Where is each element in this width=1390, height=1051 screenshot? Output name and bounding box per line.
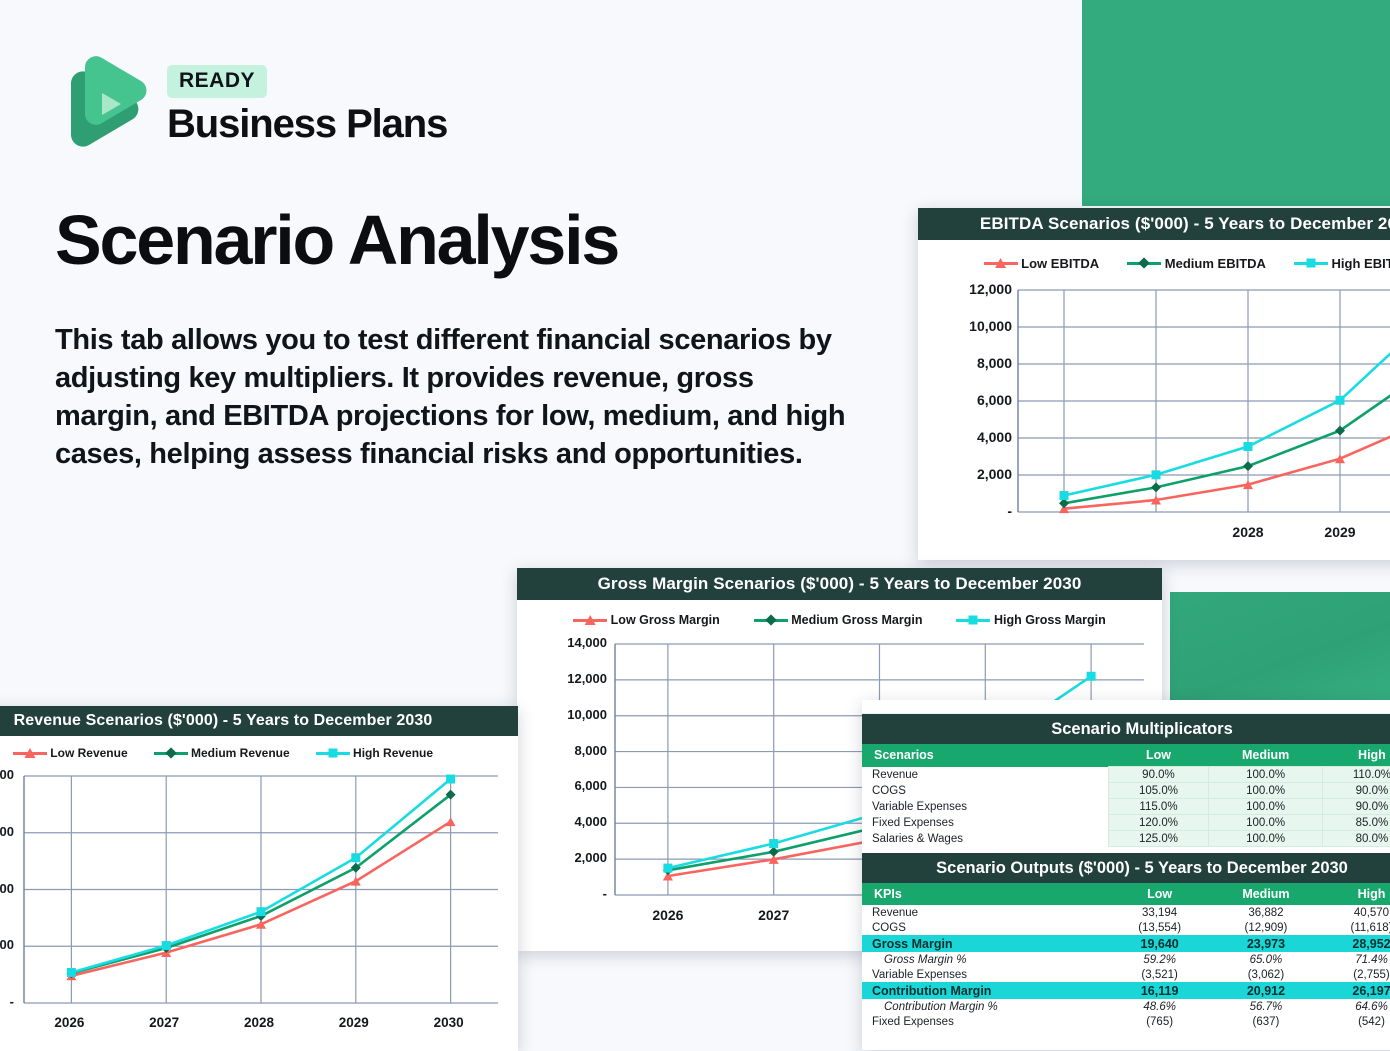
col-kpis: KPIs bbox=[862, 883, 1108, 905]
x-axis-tick: 2030 bbox=[421, 1015, 477, 1030]
cell-low: 59.2% bbox=[1108, 952, 1210, 967]
cell-medium: 100.0% bbox=[1209, 799, 1323, 815]
cell-high: 26,197 bbox=[1321, 982, 1390, 999]
decorative-green-block-middle bbox=[1170, 592, 1390, 702]
y-axis-tick: 10,000 bbox=[549, 707, 607, 722]
table-row: Fixed Expenses120.0%100.0%85.0% bbox=[862, 815, 1390, 831]
legend-line-low-icon bbox=[13, 752, 47, 755]
page-title: Scenario Analysis bbox=[55, 205, 618, 275]
y-axis-tick: - bbox=[952, 503, 1012, 519]
table-header-row: Scenarios Low Medium High bbox=[862, 744, 1390, 767]
cell-high: 85.0% bbox=[1322, 815, 1390, 831]
table-row: Contribution Margin %48.6%56.7%64.6% bbox=[862, 999, 1390, 1014]
legend-line-medium-icon bbox=[754, 619, 788, 622]
row-label: Gross Margin % bbox=[862, 952, 1108, 967]
cell-high: (2,755) bbox=[1321, 967, 1390, 982]
row-label: COGS bbox=[862, 920, 1108, 935]
legend-item-medium: Medium EBITDA bbox=[1127, 256, 1266, 271]
x-axis-tick: 2028 bbox=[231, 1015, 287, 1030]
cell-low: 90.0% bbox=[1108, 767, 1209, 783]
table-row: COGS(13,554)(12,909)(11,618) bbox=[862, 920, 1390, 935]
legend-item-low: Low Gross Margin bbox=[573, 613, 720, 627]
x-axis-tick: 2026 bbox=[638, 907, 698, 923]
y-axis-tick: 12,000 bbox=[549, 671, 607, 686]
cell-high: 71.4% bbox=[1321, 952, 1390, 967]
cell-low: 33,194 bbox=[1108, 905, 1210, 920]
revenue-chart-card: Revenue Scenarios ($'000) - 5 Years to D… bbox=[0, 706, 518, 1051]
cell-low: 19,640 bbox=[1108, 935, 1210, 952]
page-description: This tab allows you to test different fi… bbox=[55, 322, 855, 474]
cell-medium: 23,973 bbox=[1211, 935, 1321, 952]
cell-low: 48.6% bbox=[1108, 999, 1210, 1014]
cell-low: (13,554) bbox=[1108, 920, 1210, 935]
cell-low: 105.0% bbox=[1108, 783, 1209, 799]
legend-item-low: Low Revenue bbox=[13, 746, 128, 760]
table-row: Revenue33,19436,88240,570 bbox=[862, 905, 1390, 920]
x-axis-tick: 2029 bbox=[326, 1015, 382, 1030]
cell-high: 80.0% bbox=[1322, 831, 1390, 847]
brand-name: Business Plans bbox=[167, 103, 447, 145]
table-row: Variable Expenses115.0%100.0%90.0% bbox=[862, 799, 1390, 815]
y-axis-tick: 10,000 bbox=[952, 318, 1012, 334]
legend-item-high: High EBITDA bbox=[1294, 256, 1390, 271]
gross-margin-chart-legend: Low Gross Margin Medium Gross Margin Hig… bbox=[517, 606, 1162, 634]
cell-low: 120.0% bbox=[1108, 815, 1209, 831]
legend-line-high-icon bbox=[956, 619, 990, 622]
col-medium: Medium bbox=[1209, 744, 1323, 767]
y-axis-tick: 6,000 bbox=[549, 778, 607, 793]
x-axis-tick: 2027 bbox=[136, 1015, 192, 1030]
row-label: Variable Expenses bbox=[862, 799, 1108, 815]
legend-item-high: High Revenue bbox=[316, 746, 433, 760]
table-row: Revenue90.0%100.0%110.0% bbox=[862, 767, 1390, 783]
y-axis-tick: 2,000 bbox=[0, 937, 14, 952]
cell-low: 16,119 bbox=[1108, 982, 1210, 999]
cell-medium: (637) bbox=[1211, 1014, 1321, 1029]
col-low: Low bbox=[1108, 744, 1209, 767]
scenario-multiplicators-table: Scenarios Low Medium High Revenue90.0%10… bbox=[862, 744, 1390, 847]
cell-high: 90.0% bbox=[1322, 799, 1390, 815]
scenario-outputs-title: Scenario Outputs ($'000) - 5 Years to De… bbox=[862, 853, 1390, 883]
ebitda-chart-card: EBITDA Scenarios ($'000) - 5 Years to De… bbox=[918, 208, 1390, 560]
cell-low: 115.0% bbox=[1108, 799, 1209, 815]
cell-medium: 20,912 bbox=[1211, 982, 1321, 999]
legend-line-high-icon bbox=[316, 752, 350, 755]
row-label: Variable Expenses bbox=[862, 967, 1108, 982]
sheet-strip bbox=[862, 700, 1390, 714]
legend-line-medium-icon bbox=[1127, 262, 1161, 265]
scenario-tables-card: Scenario Multiplicators Scenarios Low Me… bbox=[862, 700, 1390, 1050]
revenue-chart-legend: Low Revenue Medium Revenue High Revenue bbox=[0, 740, 518, 766]
cell-medium: 56.7% bbox=[1211, 999, 1321, 1014]
table-row: COGS105.0%100.0%90.0% bbox=[862, 783, 1390, 799]
ebitda-chart-title: EBITDA Scenarios ($'000) - 5 Years to De… bbox=[918, 208, 1390, 240]
decorative-green-block-top bbox=[1082, 0, 1390, 206]
y-axis-tick: 4,000 bbox=[0, 881, 14, 896]
col-high: High bbox=[1321, 883, 1390, 905]
x-axis-tick: 2029 bbox=[1310, 524, 1370, 540]
cell-medium: 100.0% bbox=[1209, 783, 1323, 799]
legend-item-medium: Medium Gross Margin bbox=[754, 613, 923, 627]
x-axis-tick: 2026 bbox=[41, 1015, 97, 1030]
ebitda-plot-area: -2,0004,0006,0008,00010,00012,0002028202… bbox=[918, 278, 1390, 560]
legend-line-high-icon bbox=[1294, 262, 1328, 265]
col-medium: Medium bbox=[1211, 883, 1321, 905]
y-axis-tick: 8,000 bbox=[952, 355, 1012, 371]
table-row: Gross Margin %59.2%65.0%71.4% bbox=[862, 952, 1390, 967]
ready-badge: READY bbox=[167, 65, 267, 98]
col-scenarios: Scenarios bbox=[862, 744, 1108, 767]
cell-medium: (12,909) bbox=[1211, 920, 1321, 935]
revenue-chart-title: Revenue Scenarios ($'000) - 5 Years to D… bbox=[0, 706, 518, 736]
x-axis-tick: 2028 bbox=[1218, 524, 1278, 540]
y-axis-tick: 4,000 bbox=[549, 814, 607, 829]
cell-high: 110.0% bbox=[1322, 767, 1390, 783]
y-axis-tick: 4,000 bbox=[952, 429, 1012, 445]
row-label: Contribution Margin % bbox=[862, 999, 1108, 1014]
scenario-outputs-table: KPIs Low Medium High Revenue33,19436,882… bbox=[862, 883, 1390, 1029]
table-header-row: KPIs Low Medium High bbox=[862, 883, 1390, 905]
row-label: COGS bbox=[862, 783, 1108, 799]
row-label: Contribution Margin bbox=[862, 982, 1108, 999]
table-row: Contribution Margin16,11920,91226,197 bbox=[862, 982, 1390, 999]
cell-medium: 100.0% bbox=[1209, 831, 1323, 847]
cell-medium: 100.0% bbox=[1209, 767, 1323, 783]
brand-logo: READY Business Plans bbox=[55, 55, 447, 155]
cell-high: 64.6% bbox=[1321, 999, 1390, 1014]
table-row: Gross Margin19,64023,97328,952 bbox=[862, 935, 1390, 952]
cell-medium: (3,062) bbox=[1211, 967, 1321, 982]
y-axis-tick: - bbox=[0, 994, 14, 1009]
table-row: Salaries & Wages125.0%100.0%80.0% bbox=[862, 831, 1390, 847]
cell-high: (11,618) bbox=[1321, 920, 1390, 935]
cell-low: 125.0% bbox=[1108, 831, 1209, 847]
y-axis-tick: 8,000 bbox=[549, 743, 607, 758]
row-label: Salaries & Wages bbox=[862, 831, 1108, 847]
y-axis-tick: 2,000 bbox=[952, 466, 1012, 482]
cell-medium: 36,882 bbox=[1211, 905, 1321, 920]
y-axis-tick: 6,000 bbox=[0, 824, 14, 839]
cell-high: (542) bbox=[1321, 1014, 1390, 1029]
revenue-plot-area: -2,0004,0006,0008,0002026202720282029203… bbox=[0, 766, 518, 1051]
row-label: Fixed Expenses bbox=[862, 1014, 1108, 1029]
legend-item-low: Low EBITDA bbox=[984, 256, 1100, 271]
row-label: Gross Margin bbox=[862, 935, 1108, 952]
x-axis-tick: 2027 bbox=[744, 907, 804, 923]
y-axis-tick: 6,000 bbox=[952, 392, 1012, 408]
cell-high: 28,952 bbox=[1321, 935, 1390, 952]
cell-low: (3,521) bbox=[1108, 967, 1210, 982]
y-axis-tick: 2,000 bbox=[549, 850, 607, 865]
cell-low: (765) bbox=[1108, 1014, 1210, 1029]
ebitda-chart-legend: Low EBITDA Medium EBITDA High EBITDA bbox=[918, 248, 1390, 278]
play-triangle-logo-icon bbox=[55, 55, 147, 155]
col-low: Low bbox=[1108, 883, 1210, 905]
y-axis-tick: 8,000 bbox=[0, 767, 14, 782]
legend-item-medium: Medium Revenue bbox=[154, 746, 290, 760]
legend-line-medium-icon bbox=[154, 752, 188, 755]
table-row: Fixed Expenses(765)(637)(542) bbox=[862, 1014, 1390, 1029]
cell-high: 40,570 bbox=[1321, 905, 1390, 920]
cell-medium: 65.0% bbox=[1211, 952, 1321, 967]
legend-line-low-icon bbox=[573, 619, 607, 622]
y-axis-tick: - bbox=[549, 886, 607, 901]
legend-line-low-icon bbox=[984, 262, 1018, 265]
cell-medium: 100.0% bbox=[1209, 815, 1323, 831]
scenario-multiplicators-title: Scenario Multiplicators bbox=[862, 714, 1390, 744]
col-high: High bbox=[1322, 744, 1390, 767]
gross-margin-chart-title: Gross Margin Scenarios ($'000) - 5 Years… bbox=[517, 568, 1162, 600]
cell-high: 90.0% bbox=[1322, 783, 1390, 799]
row-label: Fixed Expenses bbox=[862, 815, 1108, 831]
table-row: Variable Expenses(3,521)(3,062)(2,755) bbox=[862, 967, 1390, 982]
row-label: Revenue bbox=[862, 905, 1108, 920]
y-axis-tick: 12,000 bbox=[952, 281, 1012, 297]
legend-item-high: High Gross Margin bbox=[956, 613, 1105, 627]
row-label: Revenue bbox=[862, 767, 1108, 783]
y-axis-tick: 14,000 bbox=[549, 635, 607, 650]
